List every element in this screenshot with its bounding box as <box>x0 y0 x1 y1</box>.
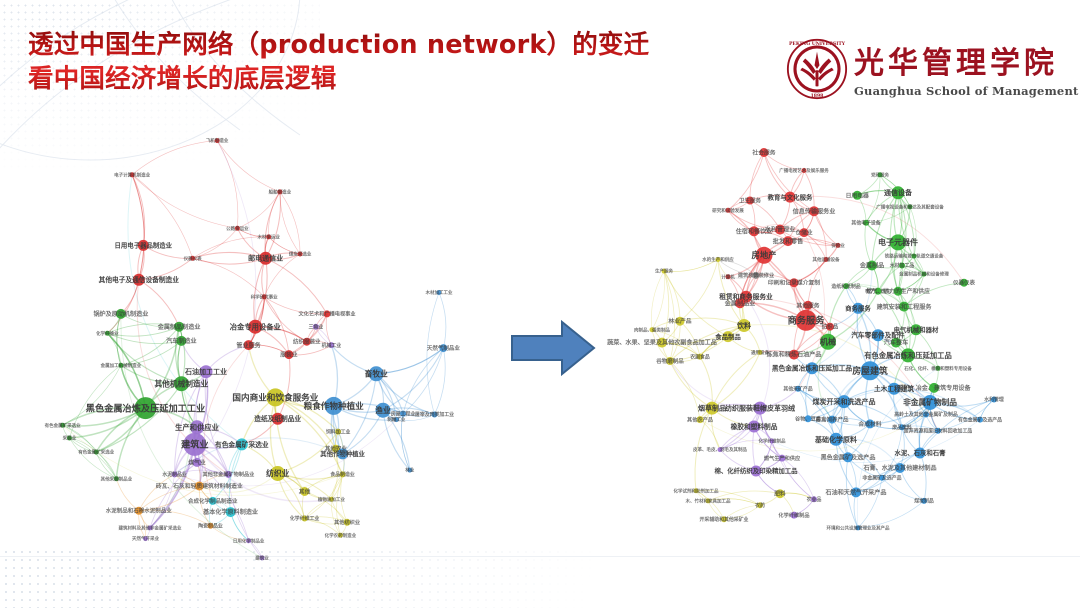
network-node-label: 社会服务 <box>751 149 775 157</box>
network-node-label: 其他农产品 <box>687 415 713 423</box>
network-node-label: 非金属矿物制品 <box>903 397 957 407</box>
network-node-label: 废弃资源和废旧材料回收加工品 <box>904 427 973 434</box>
network-node-label: 环境和公共设施管理业及其产品 <box>827 525 890 532</box>
network-node-label: 合成化学制品制造业 <box>188 497 238 505</box>
network-node-label: 木材采运业 <box>256 234 280 241</box>
network-node-label: 锅炉及原动机制造业 <box>93 310 148 318</box>
network-edge <box>139 280 179 327</box>
network-node-label: 房地产 <box>752 250 777 260</box>
network-node-label: 木、竹材和家具加工品 <box>685 498 731 505</box>
logo-name-en: Guanghua School of Management <box>854 84 1079 98</box>
network-edge <box>270 397 277 473</box>
network-node-label: 合成材料 <box>858 420 881 428</box>
network-edge <box>814 211 838 245</box>
network-node-label: 水利管理业 <box>765 226 795 234</box>
network-node-label: 房屋建筑 <box>852 365 888 377</box>
network-node-label: 造纸及纸制品业 <box>254 414 301 423</box>
network-node-label: 石油和天然气开采产品 <box>825 489 887 497</box>
network-edge <box>199 486 210 526</box>
network-node-label: 植物油加工业 <box>317 496 345 503</box>
network-node-label: 其他作物种植业 <box>320 449 365 458</box>
network-node-label: 畜牧业 <box>365 369 388 379</box>
network-node-label: 仪器仪表 <box>183 255 202 262</box>
network-node-label: 建筑业 <box>254 555 269 562</box>
network-node-label: 基础化学原料 <box>814 435 857 444</box>
network-node-label: 广播电视艺术及娱乐服务 <box>779 167 829 174</box>
network-node-label: 服装业 <box>280 351 298 359</box>
network-edge <box>858 478 882 528</box>
network-node-label: 黑色金属冶炼及压延加工工业 <box>86 402 205 414</box>
network-node-label: 天然气开采业 <box>132 535 159 542</box>
network-edge <box>278 355 290 419</box>
network-node-label: 金属制品 <box>859 262 884 270</box>
network-node-label: 食品制品 <box>714 332 741 341</box>
network-node-label: 日用电器 <box>846 191 869 199</box>
network-node-label: 其他 <box>299 488 311 496</box>
network-node-label: 采掘业 <box>62 435 77 442</box>
network-node-label: 卫生服务 <box>739 196 762 204</box>
network-node-label: 木材加工工业 <box>425 289 453 296</box>
network-edge <box>217 141 280 192</box>
network-node-label: 邮电通信业 <box>248 254 283 263</box>
network-node-label: 非金属矿及选产品 <box>862 475 901 482</box>
network-node-label: 陶瓷制品业 <box>198 523 223 530</box>
title-line-1: 透过中国生产网络（production network）的变迁 <box>28 28 768 62</box>
network-node-label: 其他电子设备 <box>851 219 880 226</box>
network-node-label: 农副食品 <box>689 353 710 360</box>
network-labels: 社会服务广播电视艺术及娱乐服务党政服务卫生服务教育与文化服务日用电器通信设备研究… <box>607 149 1004 532</box>
network-edge <box>278 474 305 519</box>
network-node-label: 谷物磨制品 <box>656 357 684 365</box>
network-node-label: 黑色金属矿及选产品 <box>821 453 876 461</box>
network-edge <box>700 420 720 450</box>
network-edge <box>798 389 836 440</box>
network-node-label: 有色金属矿及选产品 <box>958 416 1002 423</box>
network-node-label: 水泥制品业 <box>162 471 187 478</box>
network-node-label: 黑色金属冶炼和压延加工品 <box>772 364 853 373</box>
network-node-label: 水泥、石灰和石膏 <box>894 448 946 457</box>
logo-name-cn: 光华管理学院 <box>854 38 1058 82</box>
network-node-label: 渔业 <box>375 405 391 415</box>
network-node-label: 纺织品 <box>822 323 839 331</box>
network-node-label: 肉制品、蛋类制品 <box>634 326 670 333</box>
network-node-label: 印刷和记录媒介复制 <box>768 279 820 287</box>
network-node-label: 农业品 <box>806 496 822 503</box>
network-node-label: 管业服务 <box>236 341 261 349</box>
network-graph-after: 社会服务广播电视艺术及娱乐服务党政服务卫生服务教育与文化服务日用电器通信设备研究… <box>596 112 1048 584</box>
network-node-label: 租赁和商务服务业 <box>718 292 773 301</box>
page-title: 透过中国生产网络（production network）的变迁 看中国经济增长的… <box>28 28 768 96</box>
network-node-label: 研究和试验发展 <box>712 207 744 214</box>
network-edge <box>916 330 938 369</box>
network-node-label: 纺织服装业 <box>293 338 321 346</box>
network-edge <box>217 141 238 229</box>
network-node-label: 电气机械和器材 <box>894 325 939 334</box>
network-edge <box>237 192 280 228</box>
network-node-label: 汽车整车 <box>884 339 908 347</box>
network-node-label: 天然气制品业 <box>427 344 461 352</box>
network-edge <box>911 274 924 330</box>
network-edge <box>680 260 718 322</box>
network-node-label: 化学纤维业 <box>96 330 119 337</box>
network-node-label: 砖瓦、石灰和轻质建筑材料制造业 <box>156 482 243 490</box>
network-labels: 飞机制造业电子计算机制造业船舶制造业日用电子器品制造业公路货运业木材采运业仪器仪… <box>45 137 461 561</box>
network-node-label: 商务服务 <box>845 304 871 313</box>
network-edge <box>858 501 924 528</box>
network-edge <box>712 352 760 408</box>
network-node-label: 保险业 <box>830 242 845 249</box>
network-edge <box>920 453 926 501</box>
network-node-label: 燃气生产和供应 <box>764 454 801 462</box>
network-node-label: 纺织服装鞋帽皮革羽绒 <box>725 404 795 413</box>
network-node-label: 开采辅助和其他采矿业 <box>700 516 749 523</box>
network-edge <box>132 141 217 175</box>
network-edge <box>664 271 675 361</box>
network-node-label: 皮革、毛皮、羽毛及其制品 <box>693 446 747 453</box>
network-node-label: 公路货运业 <box>226 225 249 232</box>
network-node-label: 船舶制造业 <box>269 189 292 196</box>
network-edge <box>664 271 728 337</box>
network-node-label: 广播电视设备和雷达及其配套设备 <box>876 204 944 211</box>
network-edge <box>278 474 305 519</box>
network-edge <box>63 365 121 425</box>
network-node-label: 水泥制品和石棉水泥制品业 <box>106 507 173 515</box>
network-node-label: 其他电子及通信设备制造业 <box>99 275 180 284</box>
network-edge <box>652 271 665 330</box>
network-node-label: 橡胶和塑料制品 <box>731 422 778 431</box>
network-node-label: 日用化学制品业 <box>233 537 265 544</box>
network-node-label: 机械 <box>820 337 836 347</box>
network-node-label: 基本化学原料制造业 <box>202 508 258 516</box>
network-node-label: 农药 <box>754 502 765 509</box>
network-node-label: 肥料 <box>773 490 786 498</box>
network-edge <box>865 223 872 266</box>
network-node-label: 房屋工程业 <box>390 410 416 417</box>
logo: PEKING UNIVERSITY 1898 光华管理学院 Guanghua S… <box>786 36 1026 106</box>
network-node-label: 生产服务 <box>655 268 673 275</box>
network-node-label: 电力、热力 <box>865 287 891 295</box>
network-node-label: 机械工业 <box>322 342 342 349</box>
network-node-label: 汽车制造业 <box>166 337 196 345</box>
network-edge <box>96 452 116 479</box>
network-edge <box>712 352 760 408</box>
network-node-label: 石化、化纤、橡胶和塑料专用设备 <box>903 365 972 372</box>
network-edge <box>900 468 924 501</box>
network-node-label: 金属制品机械和设备修理 <box>898 271 949 278</box>
network-edge <box>439 293 446 349</box>
network-node-label: 石油加工工业 <box>184 367 227 376</box>
network-node-label: 批发和零售 <box>773 237 803 245</box>
network-edge <box>814 211 826 259</box>
network-node-label: 有色金属矿采选业 <box>215 440 269 449</box>
network-node-label: 高岭土及其他非金属矿及制品 <box>894 411 958 418</box>
network-node-label: 煤炭制品 <box>914 498 934 505</box>
network-node-label: 有色金属冶炼和压延加工品 <box>864 351 952 360</box>
network-node-label: 金属加工机械制造业 <box>100 362 142 369</box>
network-edge <box>700 357 712 408</box>
title-line-2: 看中国经济增长的底层逻辑 <box>28 62 768 96</box>
network-node-label: 其他纺织业 <box>334 518 360 526</box>
network-node-label: 电子元器件 <box>878 237 918 247</box>
network-node-label: 其他机械制造业 <box>154 378 208 388</box>
network-node-label: 屠宰及肉类加工业 <box>414 411 454 418</box>
network-node-label: 电子计算机制造业 <box>114 171 150 178</box>
network-node-label: 其他运输设备 <box>813 256 840 263</box>
network-node-label: 棉、化纤纺织及印染精加工品 <box>714 466 798 475</box>
network-node-label: 科学研究事业 <box>251 293 278 300</box>
network-node-label: 建筑材料及其他非金属矿采选业 <box>118 525 182 532</box>
seal-year: 1898 <box>811 93 824 99</box>
peking-university-seal-icon: PEKING UNIVERSITY 1898 <box>786 38 848 100</box>
network-node-label: 制糖工业 <box>387 416 405 423</box>
network-node-label: 化学农药制造业 <box>325 532 357 539</box>
network-node-label: 通信设备 <box>884 188 913 197</box>
network-edge <box>764 153 790 198</box>
network-edge <box>116 479 138 511</box>
network-node-label: 建筑安装和工程服务 <box>876 303 933 311</box>
network-edge <box>179 327 185 384</box>
network-node-label: 建筑业 <box>180 439 209 451</box>
network-node-label: 党政服务 <box>871 171 889 178</box>
network-node-label: 有色金属矿采选业 <box>45 422 81 429</box>
network-node-label: 饮料 <box>736 321 751 330</box>
network-node-label: 商务服务 <box>788 315 826 327</box>
network-edge <box>132 175 145 246</box>
network-node-label: 冶金专用设备业 <box>230 322 282 331</box>
network-node-label: 教育与文化服务 <box>768 192 813 201</box>
network-node-label: 水的生产和供应 <box>702 256 734 263</box>
network-node-label: 饲料加工业 <box>325 428 351 435</box>
network-node-label: 化学纤维制品 <box>759 438 786 445</box>
network-node-label: 畜禽饲养产品 <box>815 416 849 424</box>
network-edge <box>266 258 327 314</box>
network-edge <box>132 175 237 229</box>
network-node-label: 其他非金属矿物制品业 <box>202 470 254 478</box>
network-node-label: 其他采掘制品业 <box>101 475 133 482</box>
network-node-label: 化学试剂和助剂加工品 <box>674 487 719 494</box>
network-node-label: 其他服务 <box>796 301 819 309</box>
network-node-label: 炼焦和精炼石油产品 <box>767 351 822 359</box>
network-node-label: 煤炭开采和洗选产品 <box>813 397 876 406</box>
network-node-label: 文化艺术和广播电视事业 <box>298 310 355 318</box>
slide-canvas: 透过中国生产网络（production network）的变迁 看中国经济增长的… <box>0 0 1080 608</box>
network-node-label: 计算机 <box>721 273 735 280</box>
network-node-label: 蔬菜、水果、坚果及其他农副食品加工品 <box>607 339 717 347</box>
network-edge <box>265 192 280 258</box>
network-node-label: 烟草制品 <box>698 404 726 413</box>
network-node-label: 其他采矿产品 <box>783 386 812 393</box>
network-node-label: 林业 <box>405 467 414 474</box>
network-node-label: 信息传输服务业 <box>793 207 836 215</box>
network-edge <box>794 245 838 282</box>
network-node-label: 日用电子器品制造业 <box>115 241 173 250</box>
network-node-label: 化学纤维制品 <box>778 511 809 519</box>
network-node-label: 铁路运输和城市轨道交通设备 <box>885 253 944 260</box>
network-edge <box>651 271 664 330</box>
network-node-label: 仓储业 <box>794 229 813 237</box>
network-node-label: 煤炭采选业 <box>289 251 312 258</box>
network-edge <box>280 192 300 254</box>
network-node-label: 生产和供应业 <box>175 423 219 432</box>
network-node-label: 水利管理 <box>984 396 1004 403</box>
network-edge <box>96 452 116 479</box>
network-edge <box>331 345 337 406</box>
network-node-label: 林业产品 <box>668 317 691 325</box>
network-node-label: 煤气业 <box>188 458 206 466</box>
network-node-label: 化学纤维工业 <box>290 515 319 522</box>
network-node-label: 建筑装饰装修业 <box>738 271 774 279</box>
network-node-label: 粮食作物种植业 <box>304 400 365 412</box>
network-node-label: 纺织业 <box>266 468 289 478</box>
network-node-label: 采矿、冶金、建筑专用设备 <box>896 384 971 392</box>
seal-outer-text: PEKING UNIVERSITY <box>789 41 846 47</box>
network-node-label: 造纸和纸制品 <box>831 283 860 290</box>
network-edge <box>280 192 300 254</box>
network-graph-before: 飞机制造业电子计算机制造业船舶制造业日用电子器品制造业公路货运业木材采运业仪器仪… <box>12 112 512 584</box>
network-node-label: 飞机制造业 <box>206 137 229 144</box>
network-node-label: 木材加工品 <box>889 262 915 269</box>
network-node-label: 有色金属矿采选业 <box>78 449 114 456</box>
network-node-label: 石膏、水泥及其他建材制品 <box>862 464 936 472</box>
network-node-label: 金属制品制造业 <box>157 323 201 331</box>
network-node-label: 食品制造业 <box>330 471 355 478</box>
network-node-label: 三角业 <box>308 323 323 330</box>
transition-arrow-icon <box>510 316 596 380</box>
network-node-label: 仪器仪表 <box>952 279 976 287</box>
network-edge <box>435 348 446 414</box>
